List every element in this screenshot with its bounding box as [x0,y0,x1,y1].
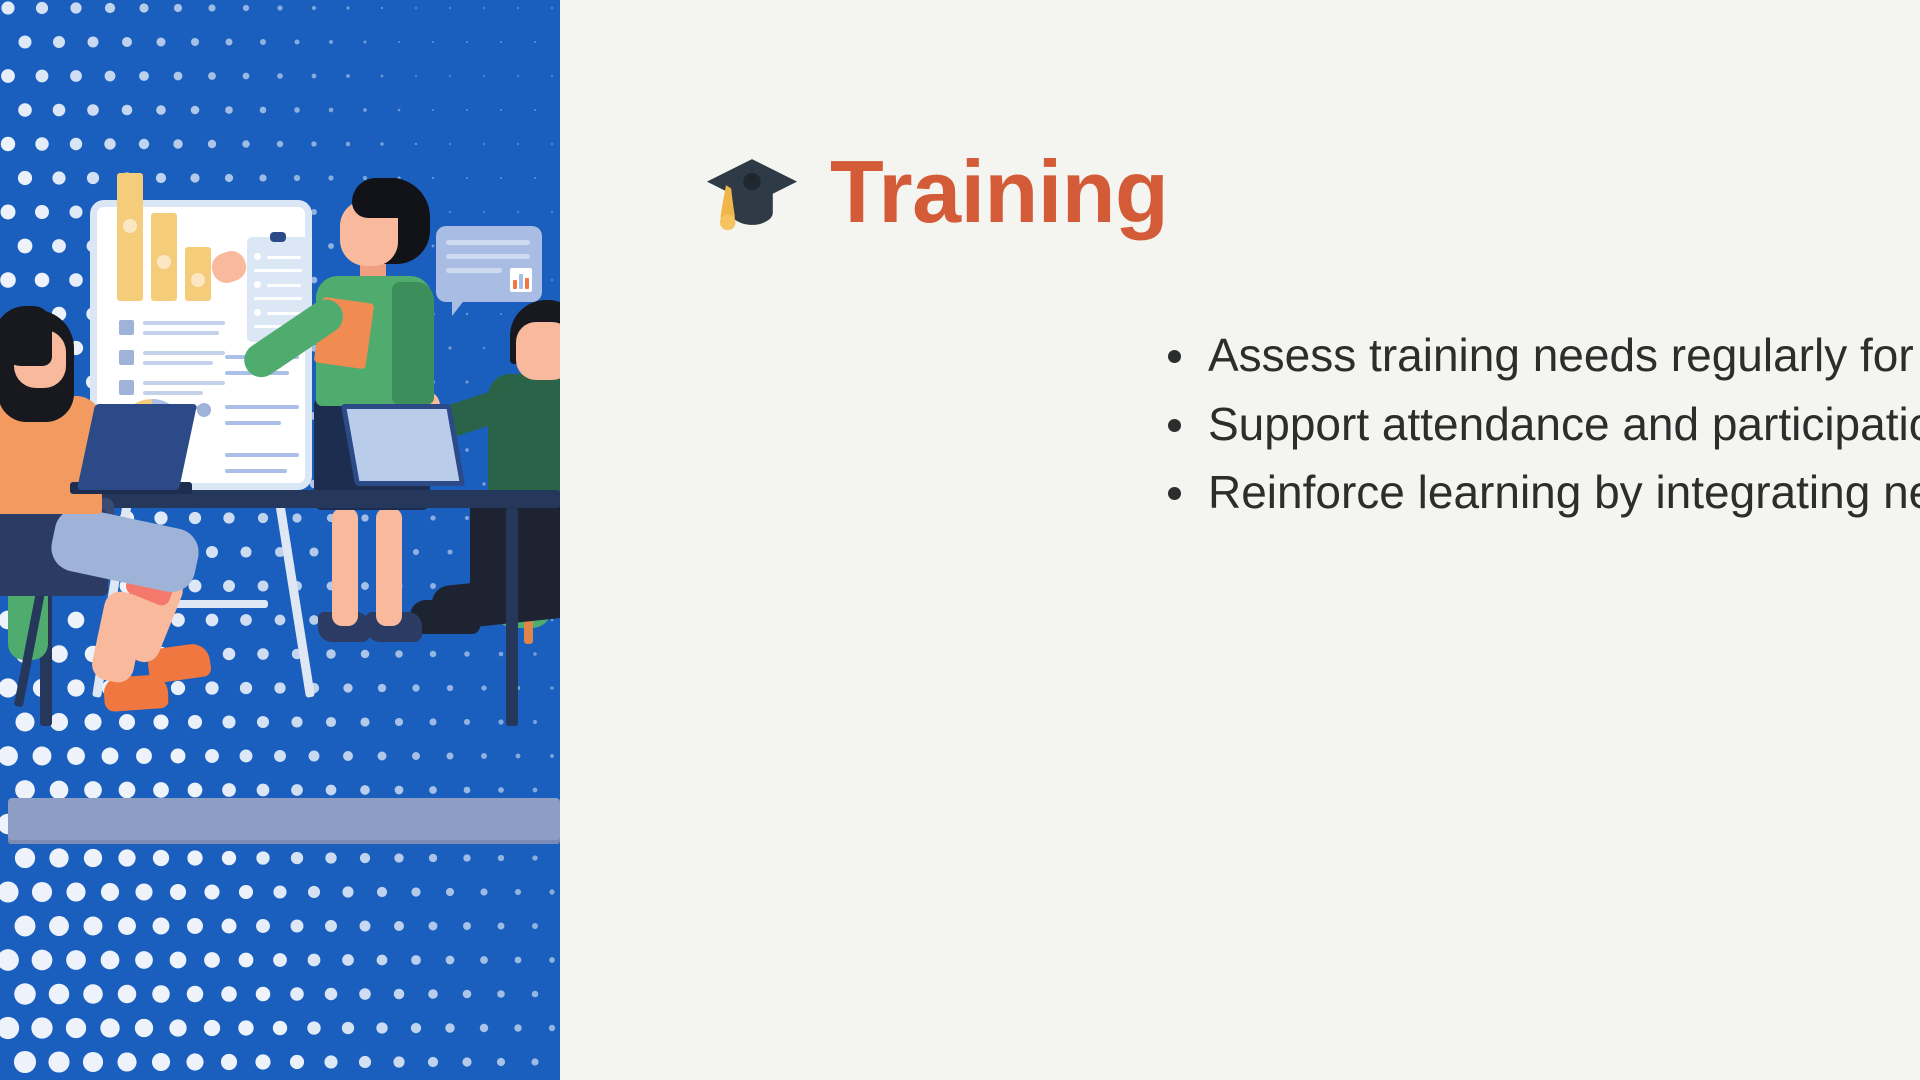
clipboard-clip [270,232,286,242]
checklist-box-1 [119,320,134,335]
page-title: Training [830,148,1168,236]
checklist-box-3 [119,380,134,395]
checklist-line-2a [143,351,225,355]
checklist-line-1a [143,321,225,325]
bubble-mini-chart [510,268,532,292]
training-scene [0,0,560,1080]
speech-bubble-tail [452,298,466,316]
laptop [77,404,197,490]
floor [8,798,560,840]
list-item: Reinforce learning by integrating new sk… [1160,459,1920,526]
presenter-jacket-shade [392,282,434,404]
second-monitor [341,404,465,486]
checklist-box-2 [119,350,134,365]
content-panel: Training Assess training needs regularly… [560,0,1920,1080]
list-item: Assess training needs regularly for your… [1160,322,1920,389]
woman-hair-front [0,306,52,366]
presenter-hair-front [352,178,414,218]
checklist-line-1b [143,331,219,335]
presenter-leg-left [332,508,358,626]
checklist-line-2b [143,361,213,365]
bullet-list: Assess training needs regularly for your… [1160,322,1920,528]
slide-header: Training [700,140,1168,244]
illustration-panel [0,0,560,1080]
man-face [516,322,560,380]
presenter-leg-right [376,508,402,626]
graduation-cap-icon [700,140,804,244]
checklist-line-3a [143,381,225,385]
slide: Training Assess training needs regularly… [0,0,1920,1080]
pie-callout-dot [197,403,211,417]
speech-bubble [436,226,542,302]
checklist-line-3b [143,391,203,395]
bar-1 [117,173,143,301]
list-item: Support attendance and participation in … [1160,391,1920,458]
table-leg-right [506,508,518,726]
